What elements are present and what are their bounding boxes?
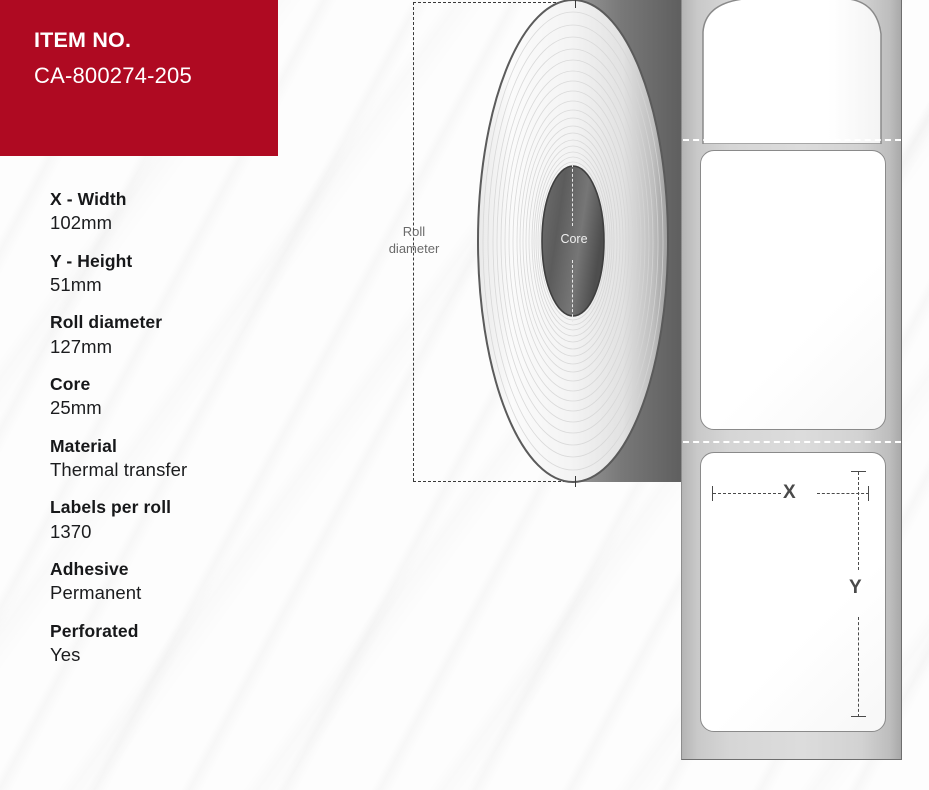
spec-label-adhesive: Adhesive (50, 558, 350, 581)
spec-row-core: Core 25mm (50, 373, 350, 421)
product-spec-sheet: Roll diameter (0, 0, 929, 790)
spec-row-perforated: Perforated Yes (50, 620, 350, 668)
item-number-banner: ITEM NO. CA-800274-205 (0, 0, 278, 156)
spec-label-labels-per-roll: Labels per roll (50, 496, 350, 519)
spec-value-perforated: Yes (50, 643, 350, 667)
spec-label-y-height: Y - Height (50, 250, 350, 273)
spec-value-x-width: 102mm (50, 211, 350, 235)
y-dimension-line-bottom (858, 617, 859, 717)
spec-row-adhesive: Adhesive Permanent (50, 558, 350, 606)
x-dimension-cap-right (868, 486, 869, 501)
y-dimension-letter: Y (849, 578, 862, 597)
spec-label-x-width: X - Width (50, 188, 350, 211)
spec-label-material: Material (50, 435, 350, 458)
spec-row-labels-per-roll: Labels per roll 1370 (50, 496, 350, 544)
spec-row-roll-diameter: Roll diameter 127mm (50, 311, 350, 359)
spec-label-perforated: Perforated (50, 620, 350, 643)
spec-value-y-height: 51mm (50, 273, 350, 297)
spec-value-labels-per-roll: 1370 (50, 520, 350, 544)
spec-label-core: Core (50, 373, 350, 396)
spec-row-material: Material Thermal transfer (50, 435, 350, 483)
spec-row-y-height: Y - Height 51mm (50, 250, 350, 298)
item-number-value: CA-800274-205 (34, 65, 278, 87)
y-dimension-cap-bottom (851, 716, 866, 717)
x-dimension-line-right (817, 493, 869, 494)
spec-value-adhesive: Permanent (50, 581, 350, 605)
x-dimension-letter: X (783, 483, 796, 502)
spec-value-material: Thermal transfer (50, 458, 350, 482)
spec-value-roll-diameter: 127mm (50, 335, 350, 359)
specification-list: X - Width 102mm Y - Height 51mm Roll dia… (50, 188, 350, 667)
x-dimension-line-left (713, 493, 781, 494)
spec-value-core: 25mm (50, 396, 350, 420)
item-number-title: ITEM NO. (34, 30, 278, 52)
spec-label-roll-diameter: Roll diameter (50, 311, 350, 334)
spec-row-x-width: X - Width 102mm (50, 188, 350, 236)
y-dimension-line-top (858, 472, 859, 570)
